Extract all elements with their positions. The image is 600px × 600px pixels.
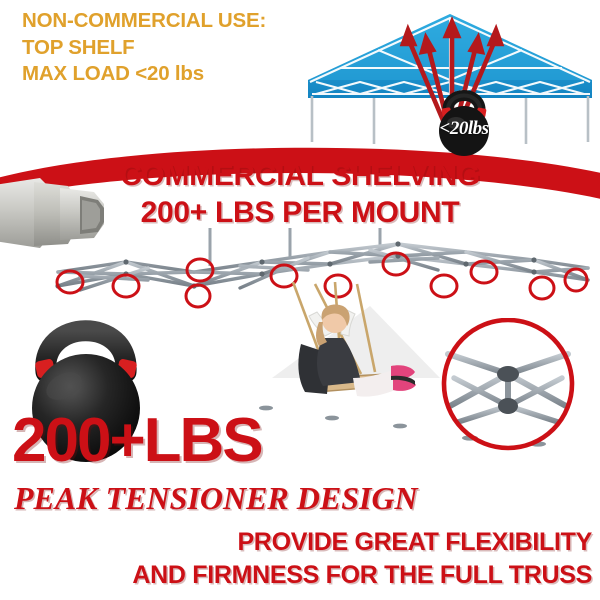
peak-tensioner-detail [428,318,588,478]
mount-circle [530,277,554,299]
girl-on-swing [275,282,420,422]
headline-line-1: COMMERCIAL SHELVING [60,158,540,195]
benefit-line-1: PROVIDE GREAT FLEXIBILITY [0,526,592,559]
peak-tensioner-design-label: PEAK TENSIONER DESIGN [14,480,418,517]
headline-line-2: 200+ LBS PER MOUNT [60,195,540,232]
product-infographic: NON-COMMERCIAL USE: TOP SHELF MAX LOAD <… [0,0,600,600]
non-commercial-warning: NON-COMMERCIAL USE: TOP SHELF MAX LOAD <… [22,8,352,88]
benefit-text-block: PROVIDE GREAT FLEXIBILITY AND FIRMNESS F… [0,526,600,593]
max-load-badge: <20lbs [416,118,512,140]
mount-circle [431,275,457,297]
warning-line-3: MAX LOAD <20 lbs [22,61,352,88]
capacity-label: 200+LBS [12,410,262,472]
commercial-shelving-headline: COMMERCIAL SHELVING 200+ LBS PER MOUNT [60,158,540,231]
warning-line-1: NON-COMMERCIAL USE: [22,8,352,35]
warning-line-2: TOP SHELF [22,35,352,62]
benefit-line-2: AND FIRMNESS FOR THE FULL TRUSS [0,559,592,592]
